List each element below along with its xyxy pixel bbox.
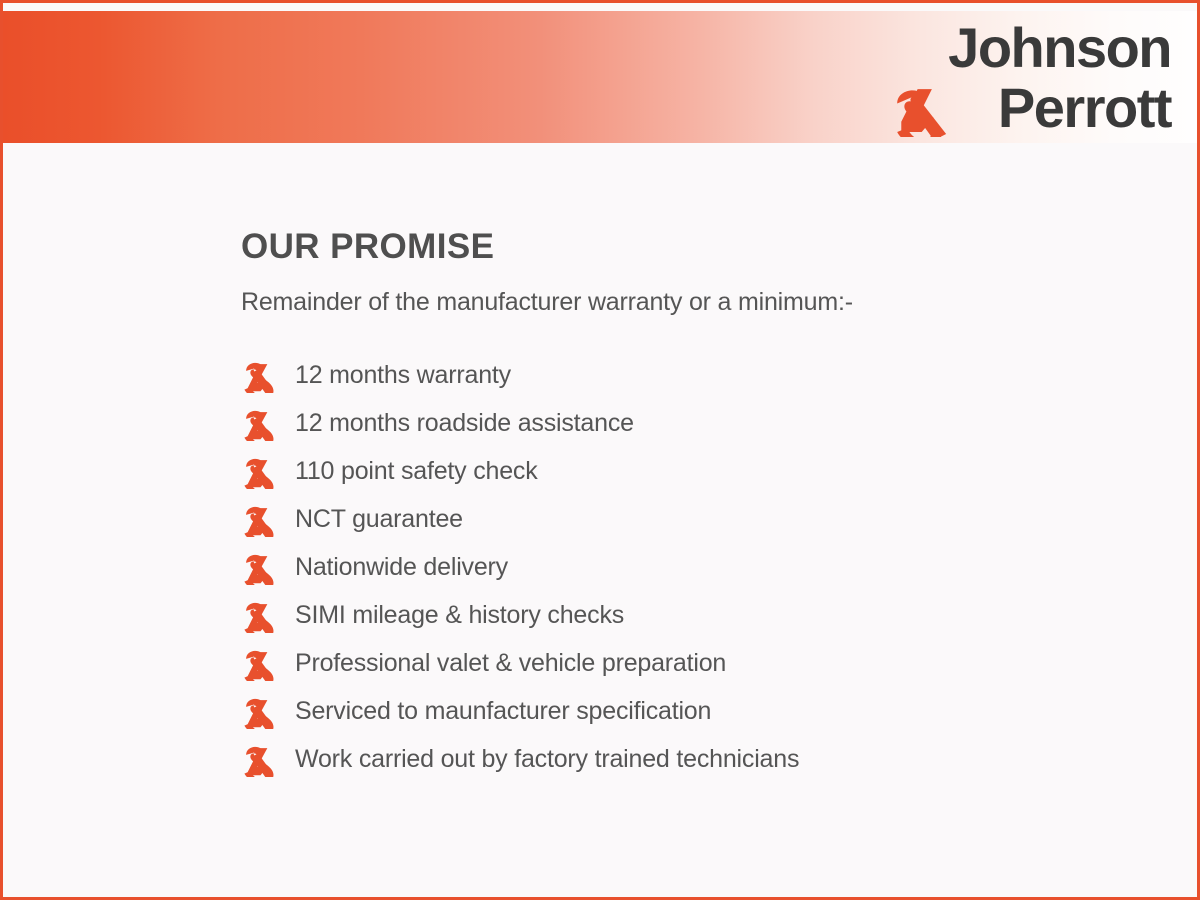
ampersand-icon (241, 647, 275, 681)
list-item-label: 12 months roadside assistance (295, 411, 634, 436)
list-item: 12 months warranty (241, 352, 1157, 400)
ampersand-icon (241, 407, 275, 441)
page-title: OUR PROMISE (241, 228, 1157, 267)
svg-text:Perrott: Perrott (998, 76, 1172, 137)
list-item-label: NCT guarantee (295, 507, 463, 532)
list-item-label: Work carried out by factory trained tech… (295, 747, 799, 772)
ampersand-icon (241, 743, 275, 777)
ampersand-icon (241, 503, 275, 537)
list-item: 110 point safety check (241, 448, 1157, 496)
list-item-label: SIMI mileage & history checks (295, 603, 624, 628)
list-item: SIMI mileage & history checks (241, 592, 1157, 640)
ampersand-icon (241, 551, 275, 585)
promise-list: 12 months warranty 12 months roadside as… (241, 352, 1157, 784)
ampersand-icon (241, 455, 275, 489)
list-item-label: Nationwide delivery (295, 555, 508, 580)
list-item: Serviced to maunfacturer specification (241, 688, 1157, 736)
svg-text:Johnson: Johnson (948, 16, 1171, 79)
list-item: Work carried out by factory trained tech… (241, 736, 1157, 784)
ampersand-icon (241, 695, 275, 729)
page-frame: Johnson Perrott OUR PROMISE Remainder of… (0, 0, 1200, 900)
list-item: NCT guarantee (241, 496, 1157, 544)
johnson-perrott-logo: Johnson Perrott (883, 15, 1173, 137)
list-item: Nationwide delivery (241, 544, 1157, 592)
list-item: 12 months roadside assistance (241, 400, 1157, 448)
promise-content: OUR PROMISE Remainder of the manufacture… (241, 228, 1157, 784)
promise-subtitle: Remainder of the manufacturer warranty o… (241, 287, 1157, 317)
ampersand-icon (241, 359, 275, 393)
ampersand-icon (241, 599, 275, 633)
list-item-label: 110 point safety check (295, 459, 538, 484)
list-item-label: Serviced to maunfacturer specification (295, 699, 711, 724)
list-item-label: 12 months warranty (295, 363, 511, 388)
list-item-label: Professional valet & vehicle preparation (295, 651, 726, 676)
list-item: Professional valet & vehicle preparation (241, 640, 1157, 688)
